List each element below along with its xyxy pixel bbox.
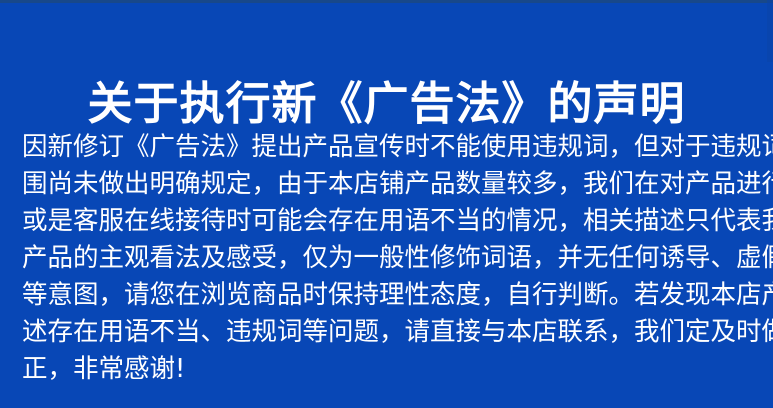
page-title: 关于执行新《广告法》的声明 — [0, 78, 773, 130]
top-edge-divider — [0, 0, 773, 3]
statement-line: 或是客服在线接待时可能会存在用语不当的情况，相关描述只代表我们对 — [22, 203, 753, 240]
statement-line: 正，非常感谢! — [22, 351, 753, 388]
statement-body: 因新修订《广告法》提出产品宣传时不能使用违规词，但对于违规词的范 围尚未做出明确… — [22, 129, 753, 388]
statement-line: 产品的主观看法及感受，仅为一般性修饰词语，并无任何诱导、虚假引导 — [22, 240, 753, 277]
statement-line: 围尚未做出明确规定，由于本店铺产品数量较多，我们在对产品进行描述 — [22, 166, 753, 203]
right-edge-shading — [767, 0, 773, 62]
statement-line: 述存在用语不当、违规词等问题，请直接与本店联系，我们定及时做出改 — [22, 314, 753, 351]
statement-line: 因新修订《广告法》提出产品宣传时不能使用违规词，但对于违规词的范 — [22, 129, 753, 166]
advertising-law-statement-banner: 关于执行新《广告法》的声明 因新修订《广告法》提出产品宣传时不能使用违规词，但对… — [0, 0, 773, 408]
statement-line: 等意图，请您在浏览商品时保持理性态度，自行判断。若发现本店产品描 — [22, 277, 753, 314]
